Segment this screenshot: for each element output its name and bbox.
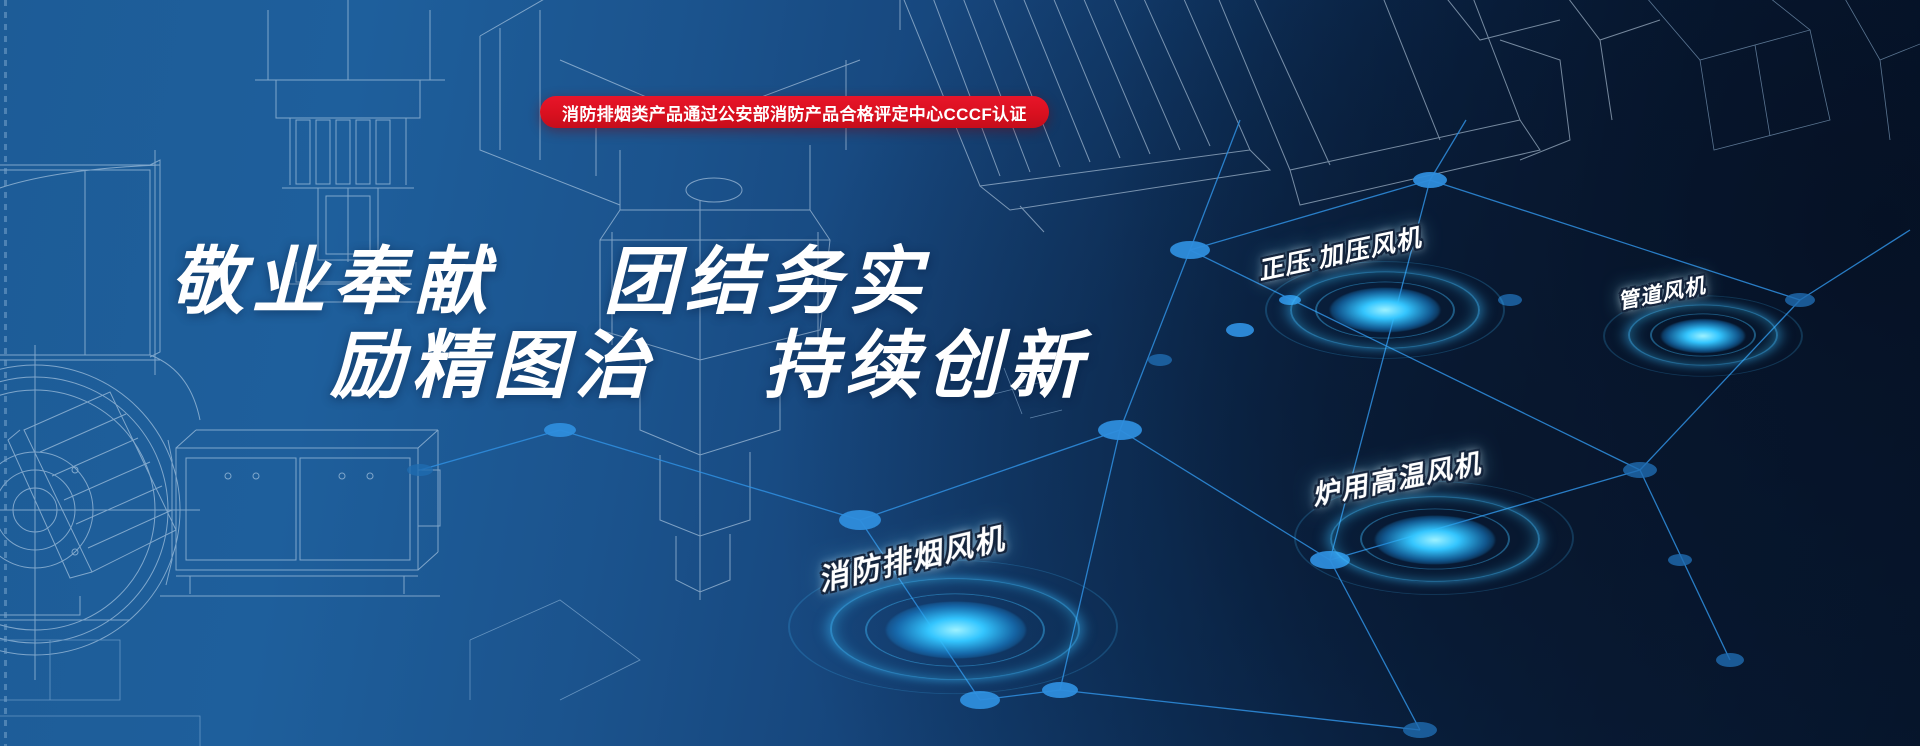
left-edge-rail bbox=[4, 0, 7, 746]
blueprint-coil-filter bbox=[8, 392, 176, 578]
slogan-line2-part1: 励精图治 bbox=[330, 326, 656, 408]
blueprint-right-frame bbox=[1640, 0, 1920, 150]
slogan-line2-part2: 持续创新 bbox=[763, 326, 1089, 408]
blueprint-mid-bottom-outline bbox=[470, 600, 640, 700]
blueprint-air-handling-unit bbox=[160, 430, 440, 596]
blueprint-lower-left-duct bbox=[0, 640, 200, 746]
slogan-line-2: 励精图治 持续创新 bbox=[330, 306, 1089, 413]
certification-banner-text: 消防排烟类产品通过公安部消防产品合格评定中心CCCF认证 bbox=[562, 100, 1027, 125]
network-edges bbox=[420, 120, 1910, 730]
blueprint-hopper-unit bbox=[1215, 0, 1660, 205]
certification-banner[interactable]: 消防排烟类产品通过公安部消防产品合格评定中心CCCF认证 bbox=[540, 96, 1049, 128]
hero-banner: 正压·加压风机 管道风机 炉用高温风机 消防排烟风机 敬业奉献 团结务实 励精图… bbox=[0, 0, 1920, 746]
